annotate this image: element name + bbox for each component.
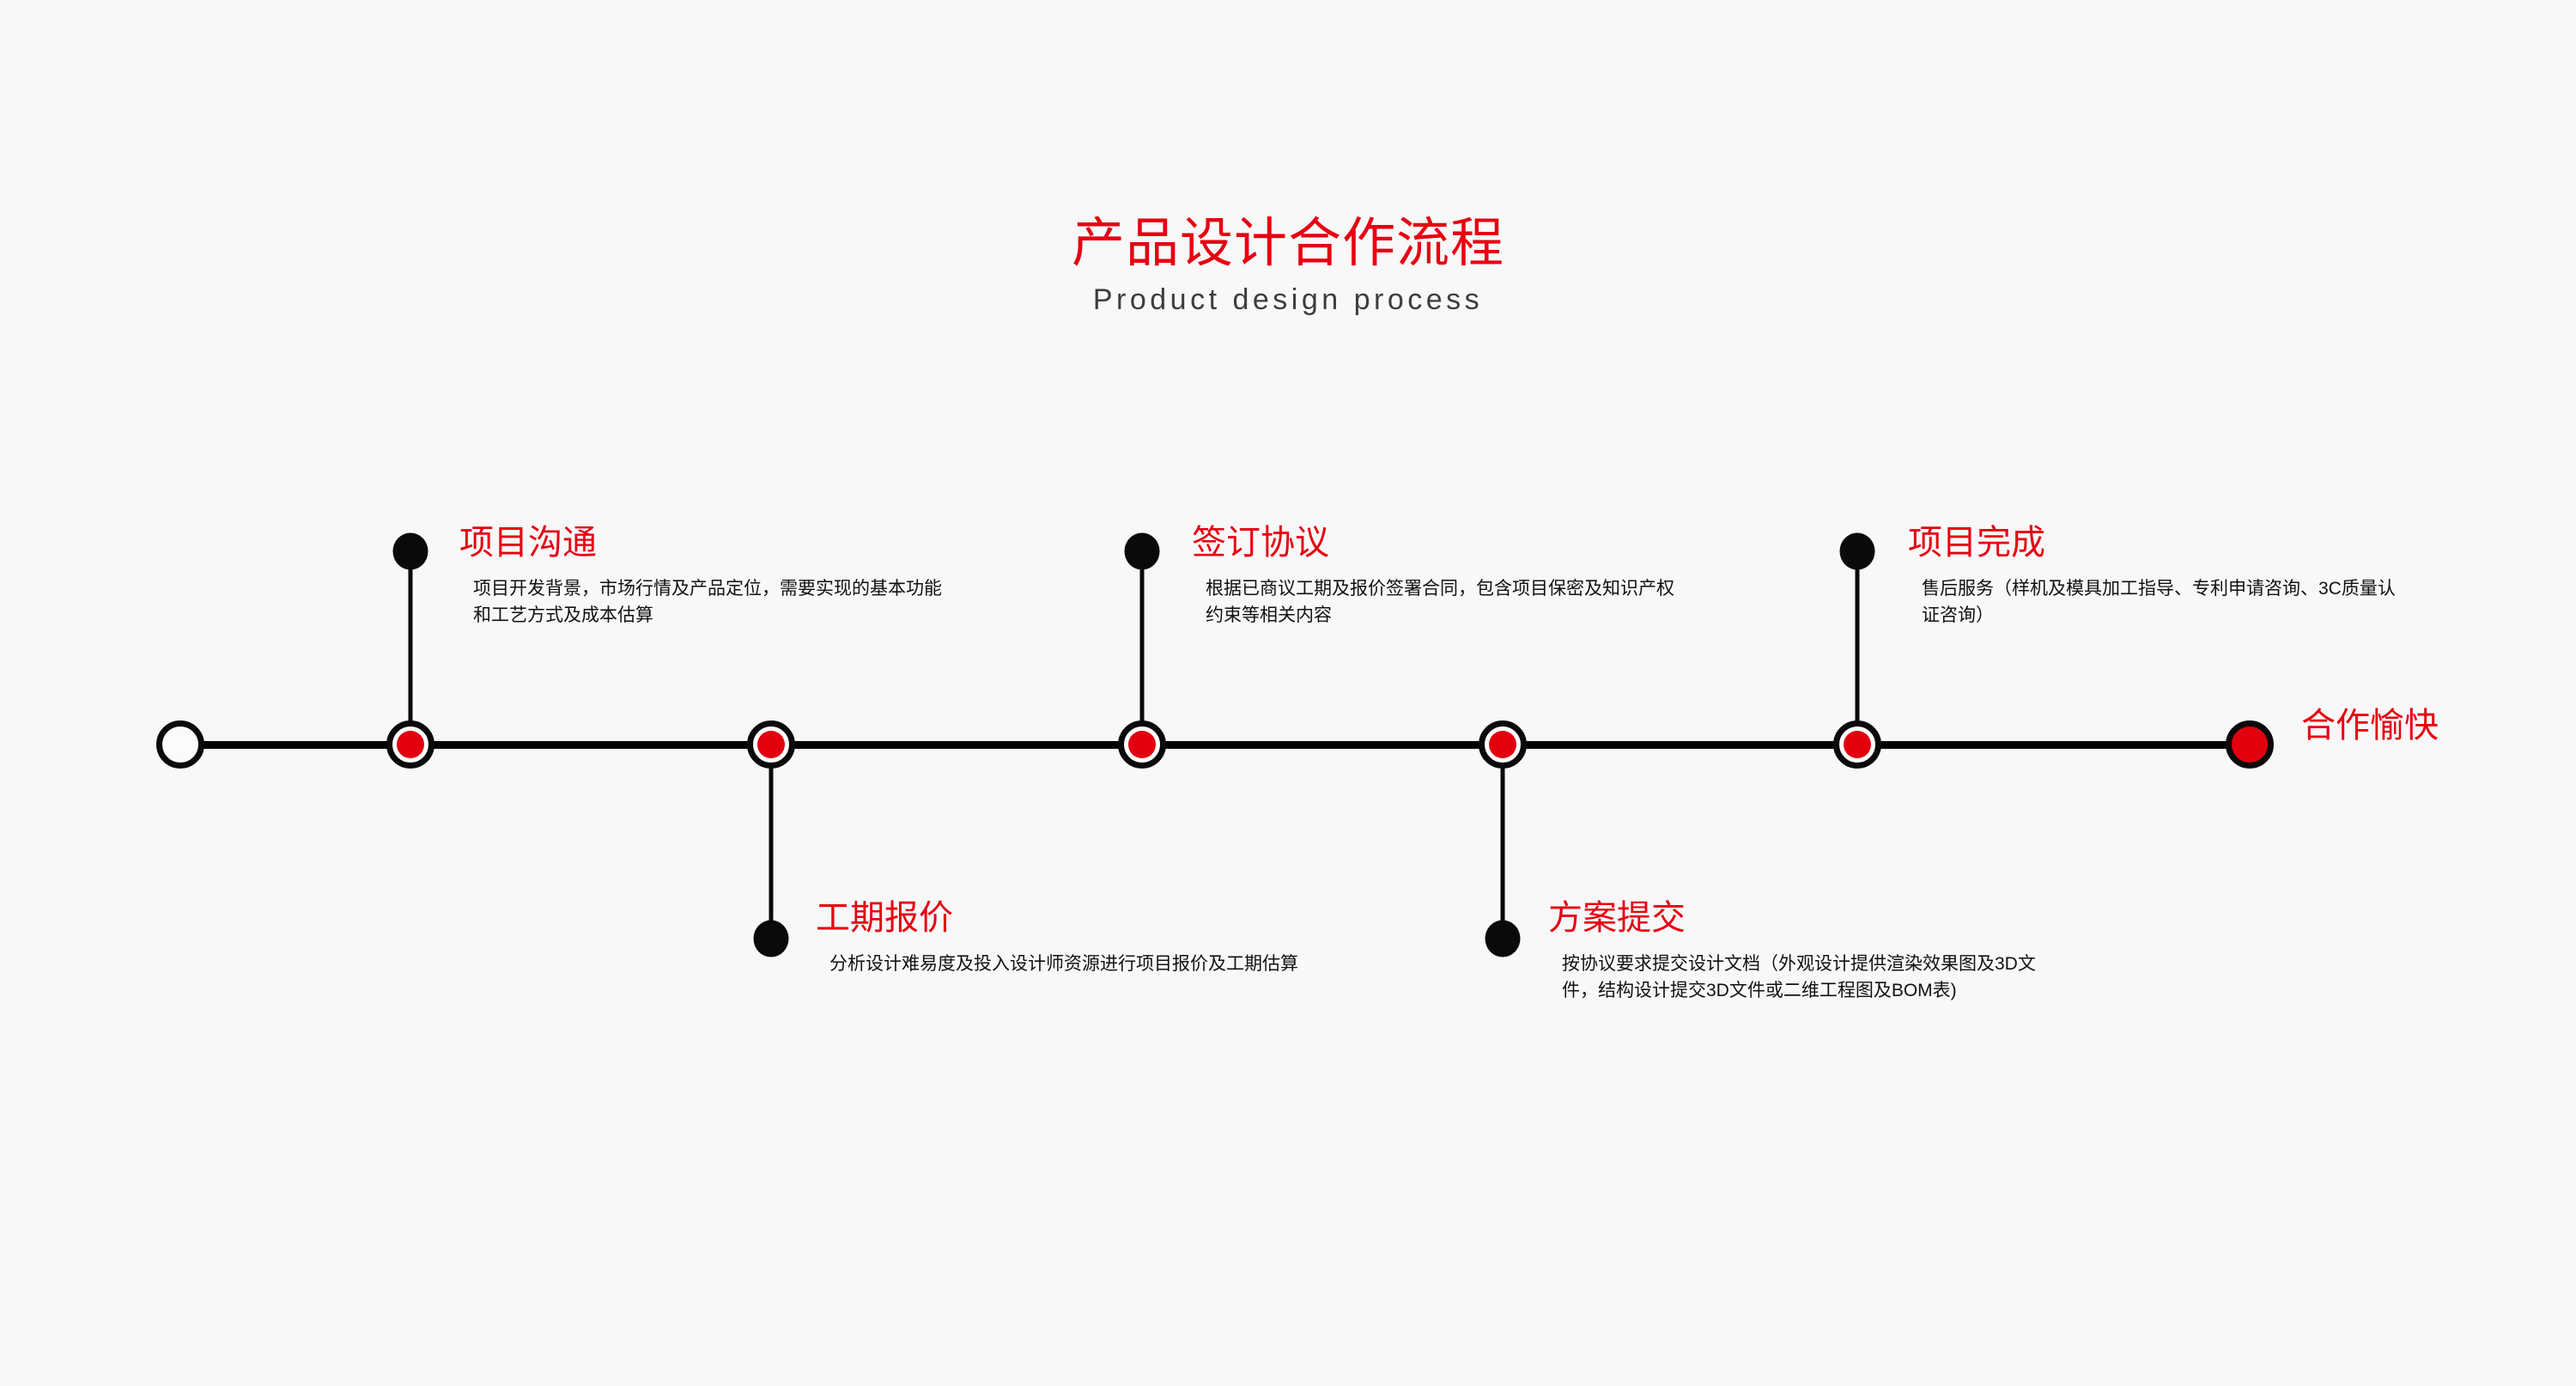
branch-dot-3 [1125, 533, 1160, 570]
branch-dot-4 [1485, 921, 1521, 957]
milestone-1: 项目沟通 项目开发背景，市场行情及产品定位，需要实现的基本功能和工艺方式及成本估… [459, 522, 975, 629]
page-title: 产品设计合作流程 [0, 213, 2576, 275]
milestone-2-body: 分析设计难易度及投入设计师资源进行项目报价及工期估算 [829, 951, 1310, 977]
branch-stem-4 [1501, 745, 1505, 939]
milestone-5: 项目完成 售后服务（样机及模具加工指导、专利申请咨询、3C质量认证咨询） [1908, 522, 2423, 629]
milestone-5-title: 项目完成 [1908, 522, 2423, 563]
start-node[interactable] [156, 720, 204, 769]
milestone-1-body: 项目开发背景，市场行情及产品定位，需要实现的基本功能和工艺方式及成本估算 [473, 575, 954, 629]
branch-dot-2 [754, 921, 789, 957]
milestone-node-1[interactable] [386, 720, 434, 769]
milestone-node-5[interactable] [1833, 720, 1881, 769]
branch-stem-5 [1856, 551, 1860, 745]
end-node[interactable] [2226, 720, 2274, 769]
milestone-4: 方案提交 按协议要求提交设计文档（外观设计提供渲染效果图及3D文件，结构设计提交… [1548, 897, 2063, 1004]
milestone-2-title: 工期报价 [816, 897, 1331, 939]
branch-stem-2 [769, 745, 774, 939]
branch-dot-5 [1840, 533, 1875, 570]
timeline-axis [180, 741, 2250, 749]
branch-stem-1 [409, 551, 413, 745]
milestone-3-title: 签订协议 [1192, 522, 1707, 563]
page-subtitle: Product design process [0, 280, 2576, 319]
branch-dot-1 [393, 533, 428, 570]
milestone-2: 工期报价 分析设计难易度及投入设计师资源进行项目报价及工期估算 [816, 897, 1331, 977]
milestone-1-title: 项目沟通 [459, 522, 975, 563]
milestone-node-3[interactable] [1118, 720, 1166, 769]
milestone-node-2[interactable] [747, 720, 795, 769]
end-label: 合作愉快 [2301, 705, 2439, 746]
milestone-node-4[interactable] [1479, 720, 1527, 769]
title-block: 产品设计合作流程 Product design process [0, 213, 2576, 319]
process-timeline-diagram: 产品设计合作流程 Product design process 项目沟通 项目开… [0, 0, 2576, 1386]
milestone-4-body: 按协议要求提交设计文档（外观设计提供渲染效果图及3D文件，结构设计提交3D文件或… [1562, 951, 2043, 1004]
milestone-5-body: 售后服务（样机及模具加工指导、专利申请咨询、3C质量认证咨询） [1922, 575, 2403, 629]
milestone-4-title: 方案提交 [1548, 897, 2063, 939]
milestone-3-body: 根据已商议工期及报价签署合同，包含项目保密及知识产权约束等相关内容 [1206, 575, 1686, 629]
branch-stem-3 [1140, 551, 1145, 745]
milestone-3: 签订协议 根据已商议工期及报价签署合同，包含项目保密及知识产权约束等相关内容 [1192, 522, 1707, 629]
